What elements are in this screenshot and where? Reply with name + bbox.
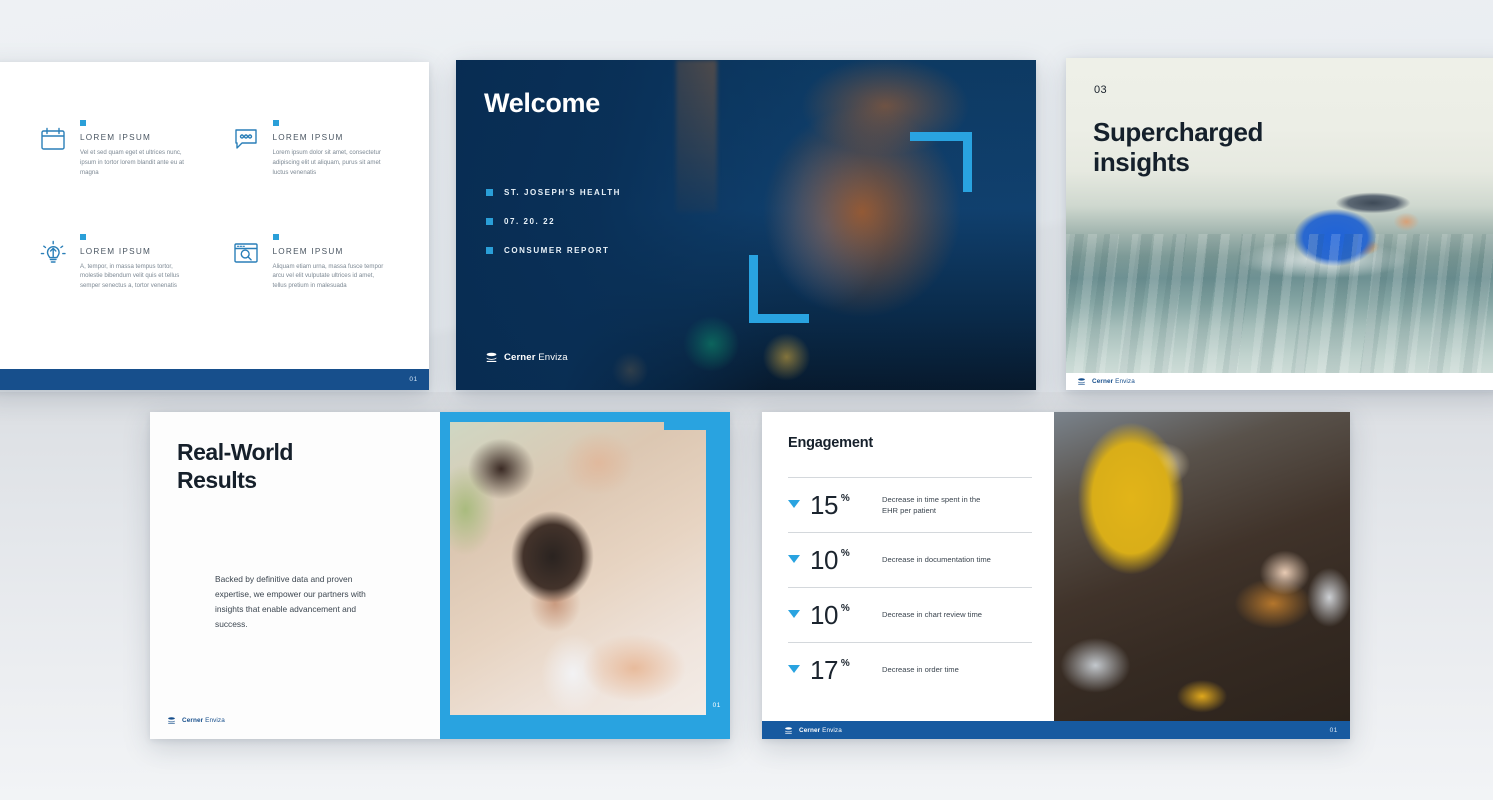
feature-heading: LOREM IPSUM: [273, 247, 396, 256]
slide-image-panel: 01: [440, 412, 730, 739]
page-number: 01: [1330, 727, 1338, 734]
stat-label: Decrease in chart review time: [882, 609, 982, 620]
feature-text: Aliquam etiam urna, massa fusce tempor a…: [273, 262, 385, 292]
slide-image-panel: [1054, 412, 1350, 721]
stat-label: Decrease in time spent in the EHR per pa…: [882, 494, 992, 516]
stat-row: 10 % Decrease in chart review time: [788, 587, 1032, 642]
slide-title: Engagement: [788, 435, 873, 451]
feature-text: A, tempor, in massa tempus tortor, moles…: [80, 262, 192, 292]
accent-square: [486, 247, 493, 254]
slide-deck-mockup: LOREM IPSUM Vel et sed quam eget et ultr…: [0, 0, 1493, 800]
list-item: 07. 20. 22: [486, 217, 621, 226]
cerner-enviza-logo: Cerner Enviza: [485, 351, 568, 364]
welcome-meta-list: ST. JOSEPH'S HEALTH 07. 20. 22 CONSUMER …: [486, 188, 621, 275]
swimmer-photo: [1066, 58, 1493, 373]
page-number: 01: [713, 702, 721, 709]
slide-lorem-grid[interactable]: LOREM IPSUM Vel et sed quam eget et ultr…: [0, 62, 429, 390]
cerner-mark-icon: [167, 716, 176, 725]
slide-text-panel: Real-World Results Backed by definitive …: [150, 412, 440, 739]
slide-engagement[interactable]: Engagement 15 % Decrease in time spent i…: [762, 412, 1350, 739]
cerner-mark-icon: [784, 726, 793, 735]
feature-body: LOREM IPSUM Vel et sed quam eget et ultr…: [80, 120, 203, 178]
slide-title: Supercharged insights: [1093, 118, 1263, 177]
stat-value: 10: [810, 547, 838, 573]
stat-unit: %: [841, 658, 850, 669]
cerner-enviza-logo: Cerner Enviza: [167, 716, 225, 725]
slide-supercharged-canvas: 03 Supercharged insights: [1066, 58, 1493, 373]
stat-row: 17 % Decrease in order time: [788, 642, 1032, 697]
slide-real-world-results[interactable]: Real-World Results Backed by definitive …: [150, 412, 730, 739]
logo-text: Cerner Enviza: [182, 717, 225, 724]
stat-unit: %: [841, 493, 850, 504]
stat-value-group: 15 %: [810, 492, 872, 518]
slide-title-line2: insights: [1093, 148, 1263, 178]
slide-welcome[interactable]: Welcome ST. JOSEPH'S HEALTH 07. 20. 22 C…: [456, 60, 1036, 390]
feature-heading: LOREM IPSUM: [80, 133, 203, 142]
feature-cell[interactable]: LOREM IPSUM Lorem ipsum dolor sit amet, …: [231, 120, 396, 178]
browser-search-icon: [231, 234, 261, 292]
feature-cell[interactable]: LOREM IPSUM A, tempor, in massa tempus t…: [38, 234, 203, 292]
slide-footer-bar: Cerner Enviza: [1066, 373, 1493, 390]
accent-square: [486, 218, 493, 225]
list-item-label: CONSUMER REPORT: [504, 246, 609, 255]
feature-body: LOREM IPSUM Lorem ipsum dolor sit amet, …: [273, 120, 396, 178]
feature-heading: LOREM IPSUM: [273, 133, 396, 142]
stat-value-group: 10 %: [810, 602, 872, 628]
cerner-mark-icon: [1077, 377, 1086, 386]
accent-square: [486, 189, 493, 196]
page-number: 01: [409, 376, 418, 383]
lightbulb-arrow-icon: [38, 234, 68, 292]
bracket-corner-bottom-left-icon: [440, 673, 500, 739]
feature-text: Vel et sed quam eget et ultrices nunc, i…: [80, 148, 192, 178]
chat-bubble-icon: [231, 120, 261, 178]
feature-cell[interactable]: LOREM IPSUM Aliquam etiam urna, massa fu…: [231, 234, 396, 292]
logo-text: Cerner Enviza: [799, 727, 842, 734]
triangle-down-icon: [788, 555, 800, 563]
bracket-corner-top-right-icon: [910, 132, 972, 192]
list-item-label: ST. JOSEPH'S HEALTH: [504, 188, 621, 197]
logo-text: Cerner Enviza: [504, 352, 568, 363]
logo-text: Cerner Enviza: [1092, 378, 1135, 385]
stat-unit: %: [841, 548, 850, 559]
cerner-enviza-logo: Cerner Enviza: [1077, 377, 1135, 386]
accent-square: [273, 120, 279, 126]
feature-body: LOREM IPSUM A, tempor, in massa tempus t…: [80, 234, 203, 292]
list-item-label: 07. 20. 22: [504, 217, 555, 226]
slide-footer-bar: 01: [0, 369, 429, 390]
stat-unit: %: [841, 603, 850, 614]
group-seated-photo: [1054, 412, 1350, 721]
accent-square: [80, 120, 86, 126]
stat-label: Decrease in documentation time: [882, 554, 991, 565]
stat-value-group: 10 %: [810, 547, 872, 573]
accent-square: [80, 234, 86, 240]
calendar-icon: [38, 120, 68, 178]
stat-label: Decrease in order time: [882, 664, 959, 675]
feature-heading: LOREM IPSUM: [80, 247, 203, 256]
slide-title-line1: Supercharged: [1093, 118, 1263, 148]
cerner-enviza-logo: Cerner Enviza: [784, 726, 842, 735]
feature-body: LOREM IPSUM Aliquam etiam urna, massa fu…: [273, 234, 396, 292]
slide-title-line2: Results: [177, 467, 293, 495]
slide-title-line1: Real-World: [177, 439, 293, 467]
engagement-stats-panel: Engagement 15 % Decrease in time spent i…: [762, 412, 1054, 721]
list-item: ST. JOSEPH'S HEALTH: [486, 188, 621, 197]
slide-body-text: Backed by definitive data and proven exp…: [215, 572, 390, 632]
slide-title: Welcome: [484, 88, 600, 119]
slide-supercharged-insights[interactable]: 03 Supercharged insights Cerner Enviza: [1066, 58, 1493, 390]
triangle-down-icon: [788, 610, 800, 618]
list-item: CONSUMER REPORT: [486, 246, 621, 255]
slide-title: Real-World Results: [177, 439, 293, 494]
bracket-corner-bottom-left-icon: [749, 255, 809, 323]
slide-number: 03: [1094, 84, 1107, 96]
stat-value-group: 17 %: [810, 657, 872, 683]
slide-lorem-canvas: LOREM IPSUM Vel et sed quam eget et ultr…: [0, 62, 429, 369]
triangle-down-icon: [788, 500, 800, 508]
cerner-mark-icon: [485, 351, 498, 364]
triangle-down-icon: [788, 665, 800, 673]
stat-value: 15: [810, 492, 838, 518]
engagement-stat-list: 15 % Decrease in time spent in the EHR p…: [788, 477, 1032, 697]
stat-row: 15 % Decrease in time spent in the EHR p…: [788, 477, 1032, 532]
feature-cell[interactable]: LOREM IPSUM Vel et sed quam eget et ultr…: [38, 120, 203, 178]
stat-value: 17: [810, 657, 838, 683]
feature-text: Lorem ipsum dolor sit amet, consectetur …: [273, 148, 385, 178]
stat-value: 10: [810, 602, 838, 628]
bracket-corner-top-right-icon: [664, 412, 730, 468]
accent-square: [273, 234, 279, 240]
lorem-feature-grid: LOREM IPSUM Vel et sed quam eget et ultr…: [38, 120, 395, 291]
slide-footer-bar: Cerner Enviza 01: [762, 721, 1350, 739]
stat-row: 10 % Decrease in documentation time: [788, 532, 1032, 587]
